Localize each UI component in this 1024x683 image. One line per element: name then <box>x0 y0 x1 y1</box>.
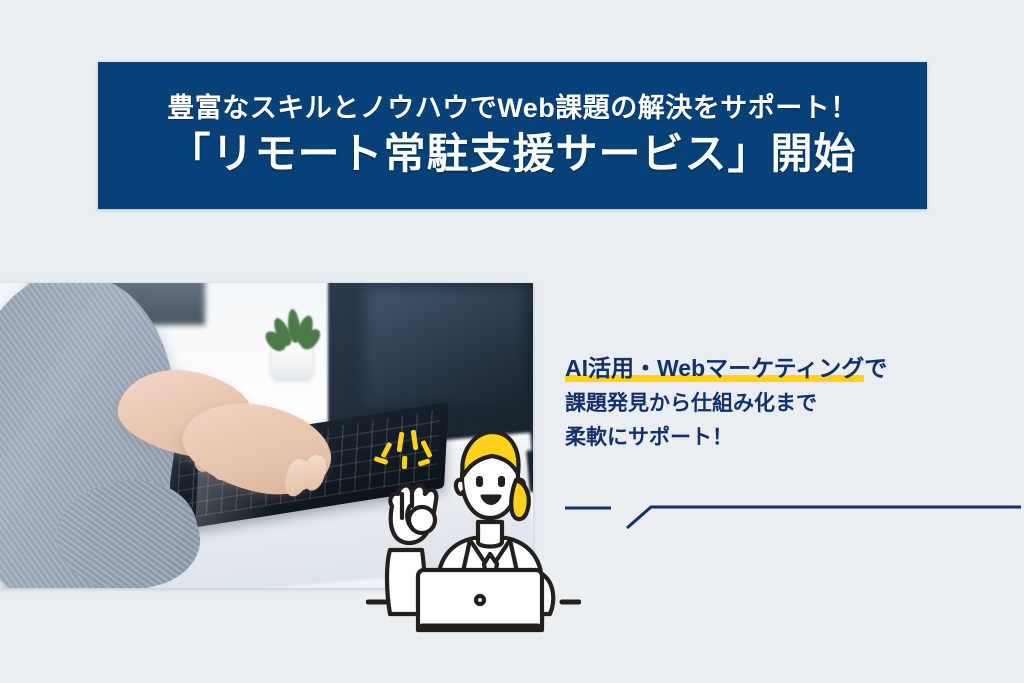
poster-canvas: 豊富なスキルとノウハウでWeb課題の解決をサポート！ 「リモート常駐支援サービス… <box>0 0 1024 683</box>
laptop-logo <box>476 596 484 604</box>
photo-monitor-glow <box>365 287 525 407</box>
businesswoman-illustration <box>366 424 581 649</box>
decorative-divider <box>563 496 1023 536</box>
ponytail <box>511 480 529 519</box>
eye-left <box>476 476 483 487</box>
copy-line-1: AI活用・Webマーケティングで <box>565 350 1005 387</box>
copy-line-3: 柔軟にサポート！ <box>565 421 1005 455</box>
ear-left <box>456 480 463 494</box>
divider-svg <box>563 496 1023 536</box>
copy-block: AI活用・Webマーケティングで 課題発見から仕組み化まで 柔軟にサポート！ <box>565 350 1005 455</box>
banner-headline: 「リモート常駐支援サービス」開始 <box>168 130 856 177</box>
banner-subheadline: 豊富なスキルとノウハウでWeb課題の解決をサポート！ <box>167 94 858 124</box>
copy-line-1-tail: で <box>864 355 887 381</box>
illustration-svg <box>366 424 581 649</box>
copy-line-2: 課題発見から仕組み化まで <box>565 387 1005 421</box>
neck <box>478 522 502 547</box>
eye-right <box>498 476 505 487</box>
headline-banner: 豊富なスキルとノウハウでWeb課題の解決をサポート！ 「リモート常駐支援サービス… <box>98 62 927 209</box>
divider-rule <box>627 507 1021 528</box>
copy-highlight-phrase: AI活用・Webマーケティング <box>565 355 864 382</box>
mouth <box>482 496 500 504</box>
